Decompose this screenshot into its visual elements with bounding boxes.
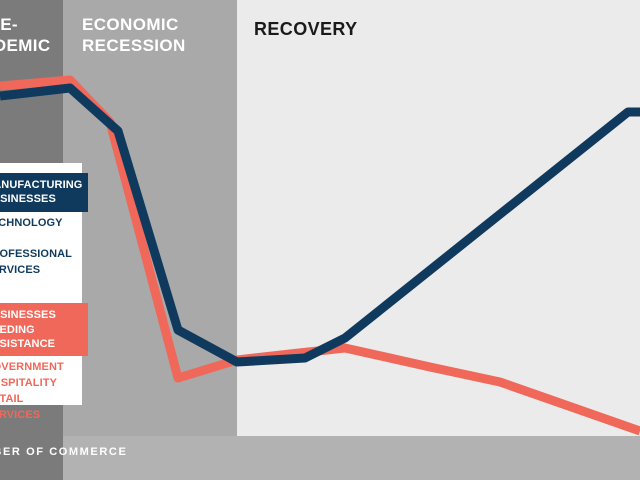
footer-strip-dark (0, 436, 63, 480)
legend-swatch-coral: BUSINESSES NEEDING ASSISTANCE (0, 303, 88, 356)
infographic-canvas: PRE- PANDEMIC ECONOMIC RECESSION RECOVER… (0, 0, 640, 480)
footer-strip-light (63, 436, 640, 480)
legend-entry-coral: BUSINESSES NEEDING ASSISTANCE GOVERNMENT… (0, 303, 74, 424)
series-line-navy (0, 88, 640, 362)
legend-entry-navy: MANUFACTURING BUSINESSES TECHNOLOGY PROF… (0, 173, 74, 279)
series-line-coral (0, 80, 640, 431)
legend-swatch-navy: MANUFACTURING BUSINESSES (0, 173, 88, 212)
footer-bar: CHAMBER OF COMMERCE (0, 436, 640, 480)
legend-sublabel-navy: TECHNOLOGY PROFESSIONAL SERVICES (0, 212, 74, 280)
legend-spacer (0, 281, 74, 303)
legend-card: MANUFACTURING BUSINESSES TECHNOLOGY PROF… (0, 163, 82, 405)
line-chart-plot (0, 0, 640, 480)
legend-sublabel-coral: GOVERNMENT HOSPITALITY RETAIL SERVICES (0, 356, 74, 424)
footer-organization-label: CHAMBER OF COMMERCE (0, 446, 127, 458)
